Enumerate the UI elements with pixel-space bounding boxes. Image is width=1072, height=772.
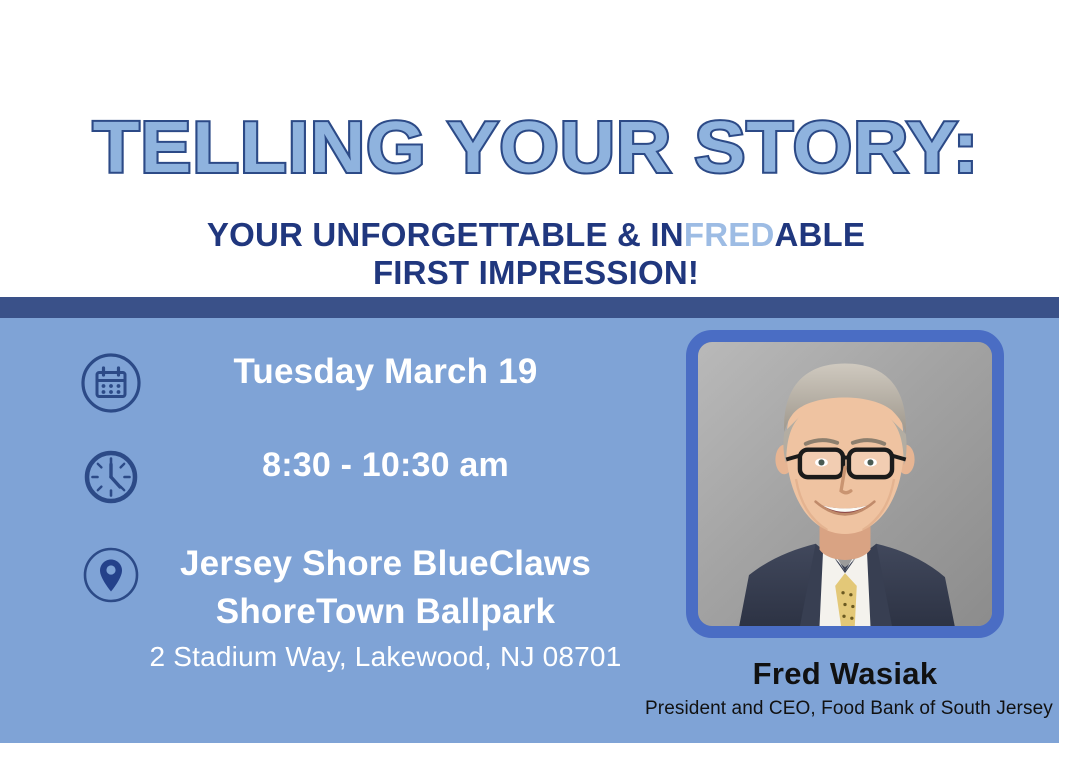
event-time: 8:30 - 10:30 am	[142, 442, 629, 489]
calendar-icon	[80, 352, 142, 414]
flyer-subtitle: YOUR UNFORGETTABLE & INFREDABLE FIRST IM…	[0, 216, 1072, 293]
event-flyer: TELLING YOUR STORY: YOUR UNFORGETTABLE &…	[0, 0, 1072, 772]
speaker-title: President and CEO, Food Bank of South Je…	[645, 698, 1045, 720]
header-divider-bar	[0, 297, 1059, 318]
subtitle-fred-highlight: FRED	[684, 216, 775, 253]
flyer-header: TELLING YOUR STORY: YOUR UNFORGETTABLE &…	[0, 0, 1072, 297]
location-pin-icon	[80, 544, 142, 606]
event-date: Tuesday March 19	[142, 348, 629, 396]
venue-line-1: Jersey Shore BlueClaws	[142, 540, 629, 588]
venue-line-2: ShoreTown Ballpark	[142, 588, 629, 636]
detail-text-date: Tuesday March 19	[142, 348, 655, 396]
detail-row-date: Tuesday March 19	[80, 348, 655, 414]
event-details-list: Tuesday March 19	[80, 348, 655, 703]
subtitle-line-two: FIRST IMPRESSION!	[0, 254, 1072, 292]
page-title: TELLING YOUR STORY:	[0, 112, 1072, 184]
speaker-block: Fred Wasiak President and CEO, Food Bank…	[645, 330, 1045, 720]
detail-row-time: 8:30 - 10:30 am	[80, 442, 655, 508]
subtitle-text-after: ABLE	[774, 216, 865, 253]
detail-row-location: Jersey Shore BlueClaws ShoreTown Ballpar…	[80, 540, 655, 675]
speaker-photo	[698, 342, 992, 626]
clock-icon	[80, 446, 142, 508]
venue-name: Jersey Shore BlueClaws ShoreTown Ballpar…	[142, 540, 629, 637]
venue-address: 2 Stadium Way, Lakewood, NJ 08701	[142, 639, 629, 675]
detail-text-time: 8:30 - 10:30 am	[142, 442, 655, 489]
flyer-body-panel: Tuesday March 19	[0, 318, 1059, 743]
speaker-photo-frame	[686, 330, 1004, 638]
subtitle-text-before: YOUR UNFORGETTABLE & IN	[207, 216, 684, 253]
detail-text-location: Jersey Shore BlueClaws ShoreTown Ballpar…	[142, 540, 655, 675]
speaker-name: Fred Wasiak	[645, 656, 1045, 692]
